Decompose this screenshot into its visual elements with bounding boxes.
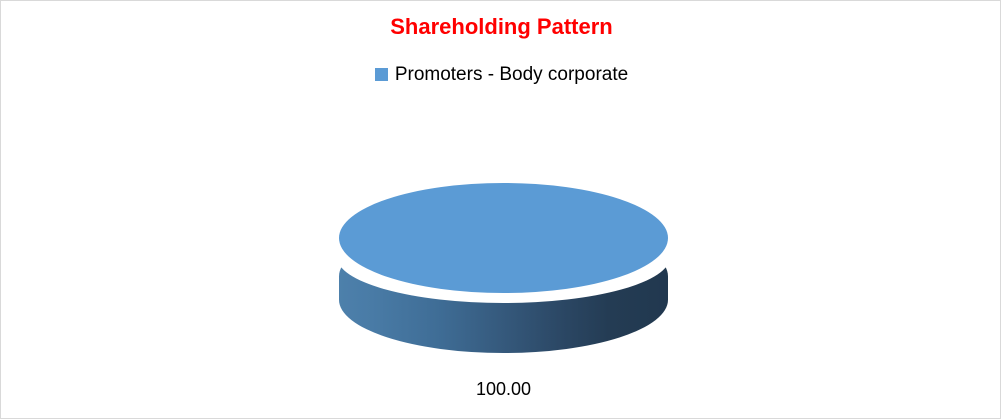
legend-item-label: Promoters - Body corporate: [395, 65, 628, 84]
pie-chart-container: Shareholding Pattern Promoters - Body co…: [0, 0, 1001, 419]
pie-data-label: 100.00: [1, 379, 1001, 400]
pie-data-label-value: 100.00: [476, 379, 531, 399]
legend-swatch-icon: [375, 68, 388, 81]
chart-title: Shareholding Pattern: [1, 14, 1001, 40]
chart-legend: Promoters - Body corporate: [1, 65, 1001, 84]
pie-graphic[interactable]: [339, 183, 668, 353]
pie-slice-promoters-body-corporate[interactable]: [339, 183, 668, 293]
legend-item[interactable]: Promoters - Body corporate: [375, 65, 628, 84]
